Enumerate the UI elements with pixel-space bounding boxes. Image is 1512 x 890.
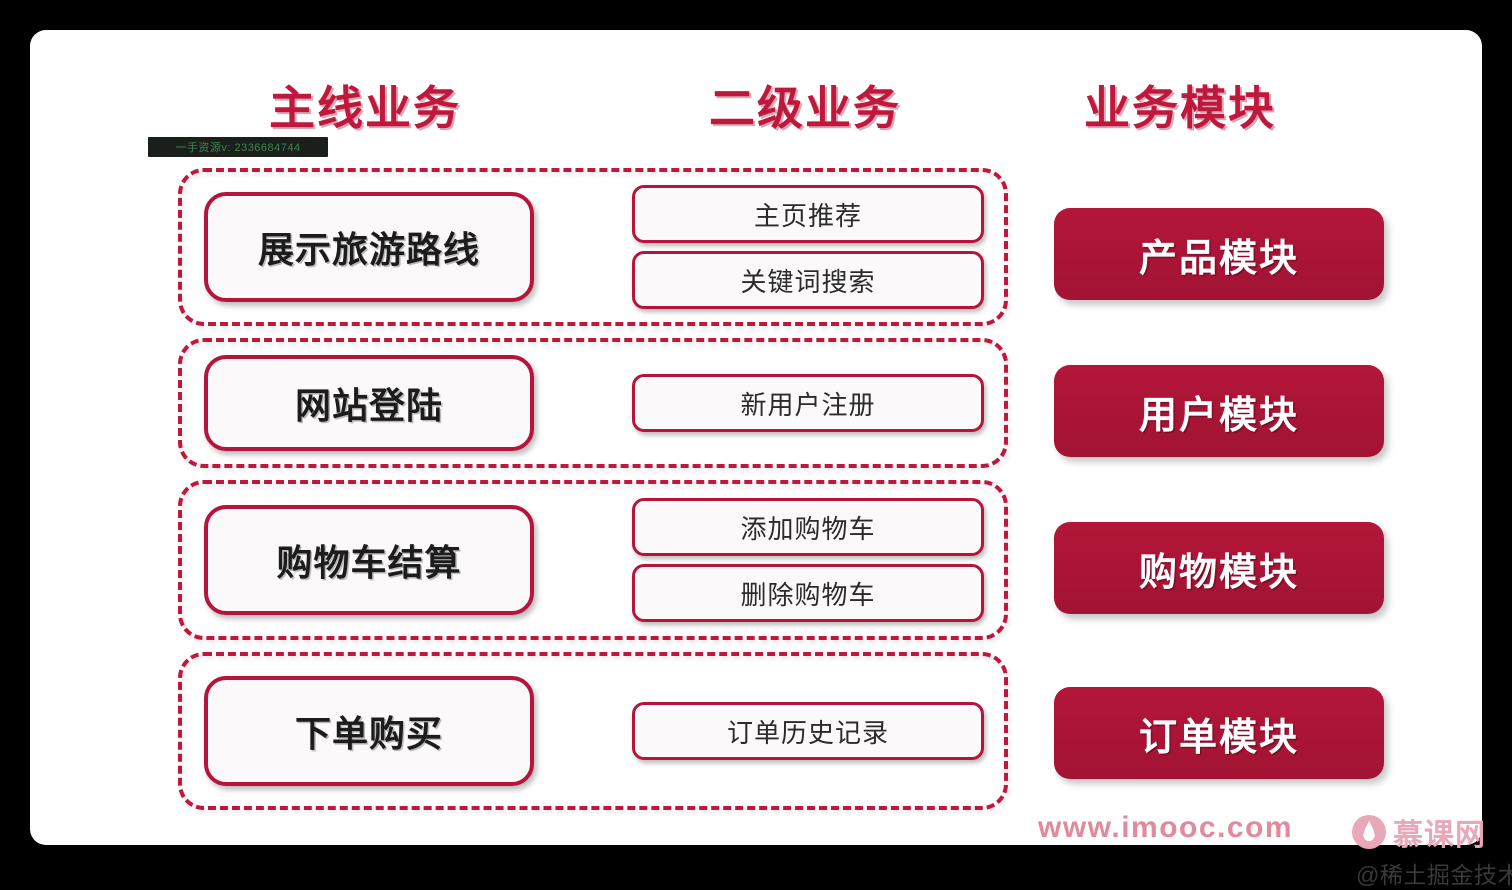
brand-logo: 慕课网 (1352, 810, 1486, 854)
community-watermark: @稀土掘金技术社区 (1356, 856, 1512, 890)
slide-root: 主线业务 二级业务 业务模块 一手资源v: 2336684744 展示旅游路线 … (0, 0, 1512, 879)
column-header-modules: 业务模块 (1030, 72, 1330, 138)
brand-name: 慕课网 (1393, 810, 1486, 854)
primary-business-label: 下单购买 (295, 705, 443, 757)
secondary-business-list: 订单历史记录 (632, 702, 984, 760)
overlay-watermark-text: 一手资源v: 2336684744 (175, 139, 300, 155)
secondary-business-list: 添加购物车 删除购物车 (632, 498, 984, 622)
primary-business-label: 网站登陆 (295, 377, 443, 429)
module-label: 订单模块 (1139, 706, 1299, 761)
secondary-business-label: 新用户注册 (740, 385, 875, 422)
business-row-group: 网站登陆 新用户注册 (178, 338, 1008, 468)
secondary-business-list: 主页推荐 关键词搜索 (632, 185, 984, 309)
secondary-business-label: 删除购物车 (740, 575, 875, 612)
primary-business-box[interactable]: 下单购买 (204, 676, 534, 786)
secondary-business-box[interactable]: 主页推荐 (632, 185, 984, 243)
module-box[interactable]: 产品模块 (1054, 208, 1384, 300)
primary-business-label: 展示旅游路线 (258, 221, 480, 273)
module-label: 产品模块 (1139, 227, 1299, 282)
secondary-business-label: 订单历史记录 (727, 713, 889, 750)
business-row-group: 展示旅游路线 主页推荐 关键词搜索 (178, 168, 1008, 326)
module-box[interactable]: 用户模块 (1054, 365, 1384, 457)
secondary-business-box[interactable]: 删除购物车 (632, 564, 984, 622)
module-box[interactable]: 购物模块 (1054, 522, 1384, 614)
module-label: 用户模块 (1139, 384, 1299, 439)
secondary-business-label: 添加购物车 (740, 509, 875, 546)
primary-business-box[interactable]: 展示旅游路线 (204, 192, 534, 302)
business-row-group: 下单购买 订单历史记录 (178, 652, 1008, 810)
secondary-business-list: 新用户注册 (632, 374, 984, 432)
footer-website-url: www.imooc.com (1038, 811, 1293, 845)
business-row-group: 购物车结算 添加购物车 删除购物车 (178, 480, 1008, 640)
flame-icon (1352, 815, 1386, 849)
primary-business-box[interactable]: 购物车结算 (204, 505, 534, 615)
column-headers: 主线业务 二级业务 业务模块 (30, 72, 1482, 142)
column-header-secondary: 二级业务 (655, 72, 955, 138)
secondary-business-label: 主页推荐 (754, 196, 862, 233)
module-box[interactable]: 订单模块 (1054, 687, 1384, 779)
slide-card: 主线业务 二级业务 业务模块 一手资源v: 2336684744 展示旅游路线 … (30, 30, 1482, 845)
module-label: 购物模块 (1139, 541, 1299, 596)
primary-business-box[interactable]: 网站登陆 (204, 355, 534, 451)
column-header-main-line: 主线业务 (215, 72, 515, 138)
primary-business-label: 购物车结算 (276, 534, 461, 586)
secondary-business-box[interactable]: 新用户注册 (632, 374, 984, 432)
secondary-business-box[interactable]: 添加购物车 (632, 498, 984, 556)
secondary-business-label: 关键词搜索 (740, 262, 875, 299)
secondary-business-box[interactable]: 关键词搜索 (632, 251, 984, 309)
secondary-business-box[interactable]: 订单历史记录 (632, 702, 984, 760)
module-column: 产品模块 用户模块 购物模块 订单模块 (1054, 160, 1384, 820)
overlay-watermark-strip: 一手资源v: 2336684744 (148, 137, 328, 157)
